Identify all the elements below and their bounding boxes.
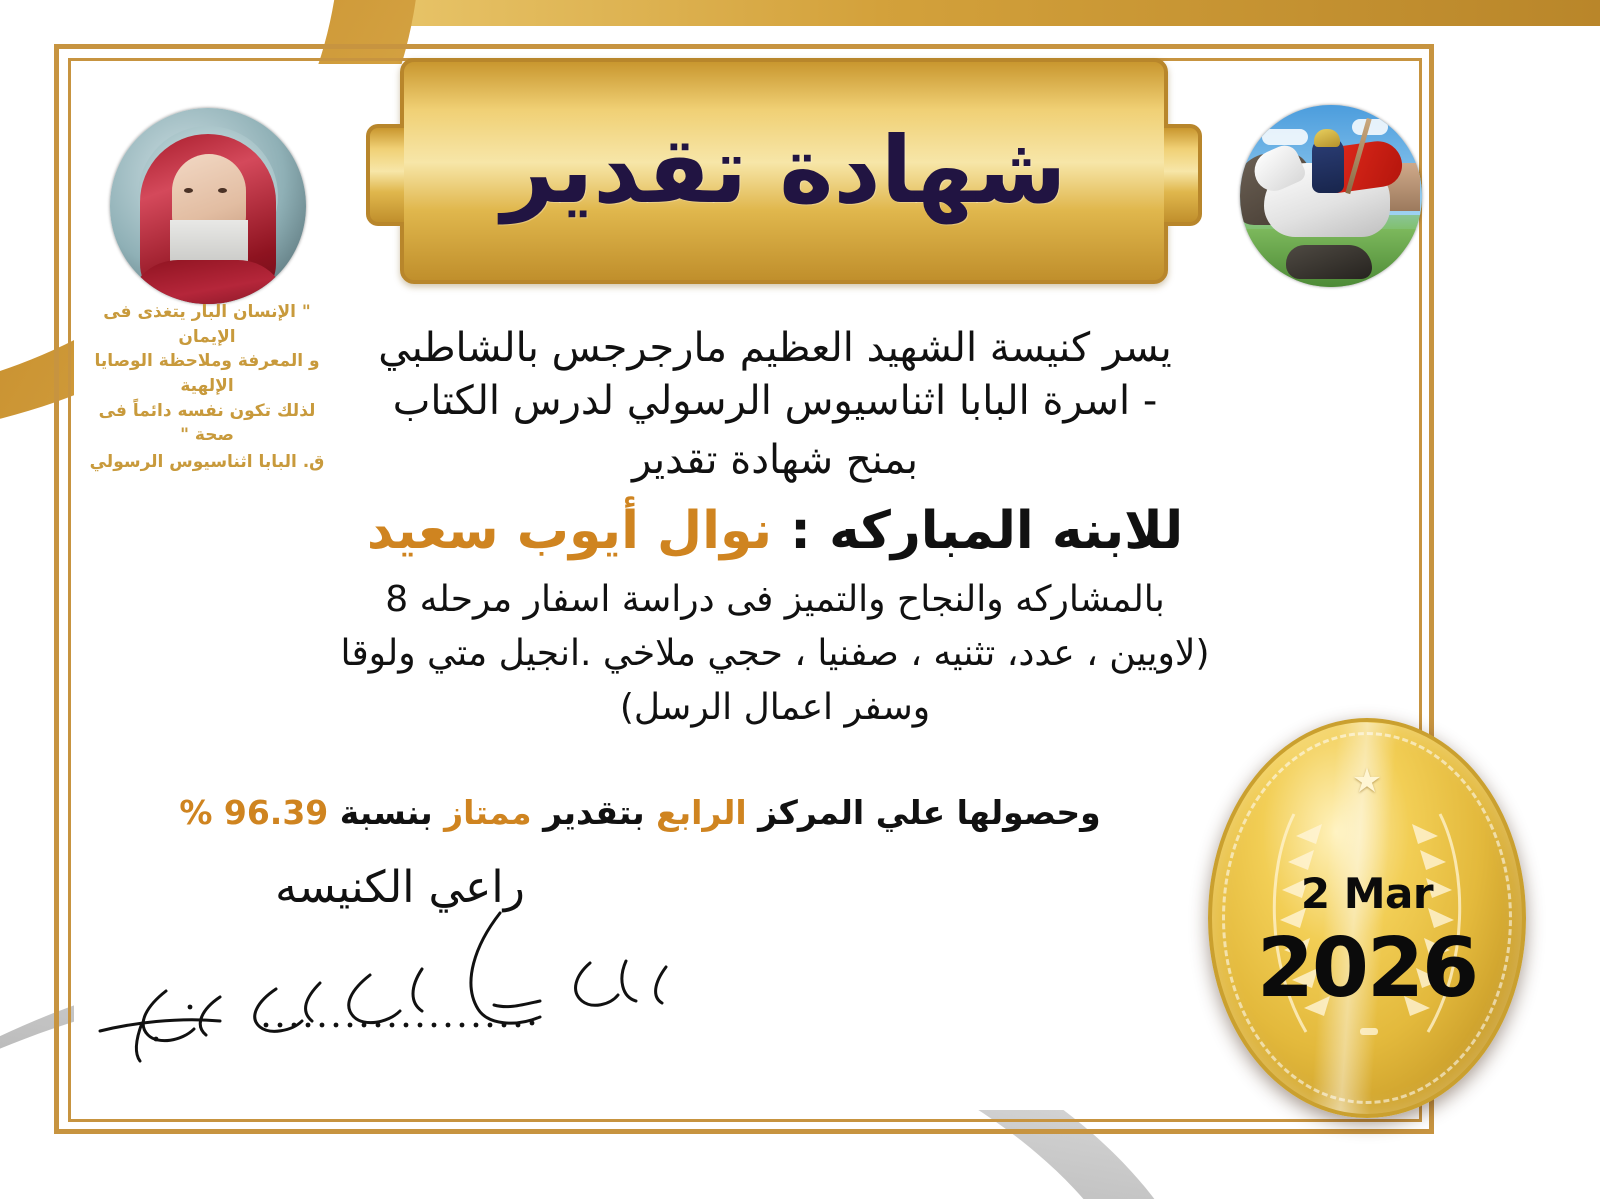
detail-line-2: (لاويين ، عدد، تثنيه ، صفنيا ، حجي ملاخي… bbox=[330, 627, 1220, 681]
top-gold-strip bbox=[0, 0, 1600, 26]
quote-line: و المعرفة وملاحظة الوصايا الإلهية bbox=[78, 349, 336, 398]
handwritten-signature-icon bbox=[70, 905, 690, 1065]
intro-line-2: - اسرة البابا اثناسيوس الرسولي لدرس الكت… bbox=[330, 375, 1220, 428]
result-line: وحصولها علي المركز الرابع بتقدير ممتاز ب… bbox=[140, 793, 1140, 832]
detail-line-1: بالمشاركه والنجاح والتميز فى دراسة اسفار… bbox=[330, 573, 1220, 627]
quote-line: لذلك تكون نفسه دائماً فى صحة " bbox=[78, 399, 336, 448]
grant-line: بمنح شهادة تقدير bbox=[330, 434, 1220, 487]
certificate-body: يسر كنيسة الشهيد العظيم مارجرجس بالشاطبي… bbox=[330, 322, 1220, 735]
seal-date: 2 Mar bbox=[1301, 869, 1433, 918]
recipient-label: للابنه المباركه : bbox=[772, 501, 1183, 561]
result-suffix: بنسبة bbox=[328, 793, 444, 832]
saint-george-dragon-icon bbox=[1240, 105, 1422, 287]
cloud-shape bbox=[1262, 129, 1308, 145]
quote-line: " الإنسان البار يتغذى فى الإيمان bbox=[78, 300, 336, 349]
quote-attribution: ق. البابا اثناسيوس الرسولي bbox=[78, 450, 336, 475]
dragon-shape bbox=[1286, 245, 1372, 279]
eye-right-shape bbox=[218, 188, 227, 193]
result-middle: بتقدير bbox=[532, 793, 657, 832]
shoulder-shape bbox=[128, 260, 288, 304]
title-plaque: شهادة تقدير bbox=[400, 58, 1168, 284]
intro-line-1: يسر كنيسة الشهيد العظيم مارجرجس بالشاطبي bbox=[330, 322, 1220, 375]
eye-left-shape bbox=[184, 188, 193, 193]
page-title: شهادة تقدير bbox=[502, 125, 1067, 217]
gold-award-seal-icon: ★ 2 Mar 2026 bbox=[1208, 718, 1526, 1118]
seal-star-icon: ★ bbox=[1352, 764, 1382, 798]
result-grade: ممتاز bbox=[444, 793, 531, 832]
result-percent: 96.39 % bbox=[179, 793, 328, 832]
seal-year: 2026 bbox=[1257, 928, 1477, 1010]
result-prefix: وحصولها علي المركز bbox=[747, 793, 1101, 832]
saint-portrait-icon bbox=[110, 108, 306, 304]
certificate-page: شهادة تقدير " الإنسان البار يتغذى فى الإ… bbox=[0, 0, 1600, 1199]
helmet-shape bbox=[1314, 129, 1340, 147]
recipient-name: نوال أيوب سعيد bbox=[367, 501, 772, 561]
saint-quote-block: " الإنسان البار يتغذى فى الإيمان و المعر… bbox=[78, 300, 336, 474]
result-rank: الرابع bbox=[656, 793, 746, 832]
recipient-line: للابنه المباركه : نوال أيوب سعيد bbox=[330, 500, 1220, 562]
detail-line-3: وسفر اعمال الرسل) bbox=[330, 681, 1220, 735]
